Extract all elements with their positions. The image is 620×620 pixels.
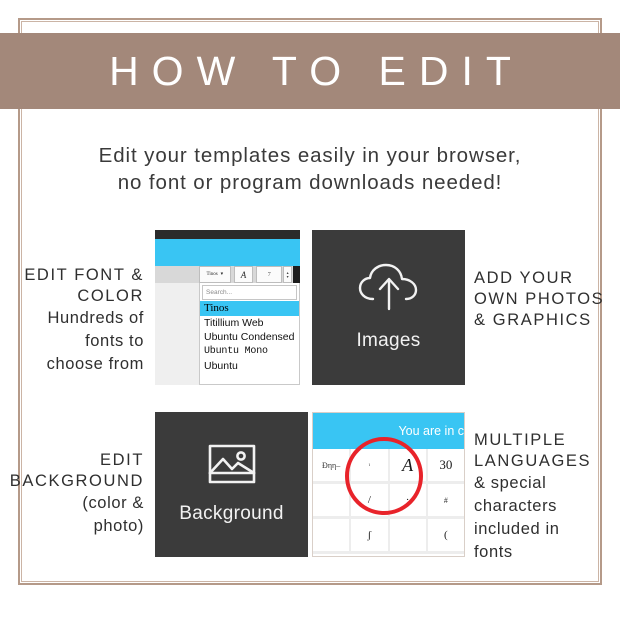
- caption-heading-line: MULTIPLE: [474, 430, 616, 451]
- caption-heading-line: EDIT FONT &: [14, 265, 144, 286]
- page-title: HOW TO EDIT: [96, 48, 524, 95]
- app-blue-header: [155, 239, 300, 266]
- font-picker-screenshot: Tinos ▾ A 7 ▴ ▾ Search... TinosTitillium…: [155, 230, 300, 385]
- font-size-value: 7: [268, 272, 271, 278]
- chevron-down-icon: ▾: [221, 272, 224, 277]
- caption-body-line: included in: [474, 518, 616, 541]
- font-size-stepper[interactable]: ▴ ▾: [283, 266, 292, 283]
- font-list-item[interactable]: Tinos: [200, 301, 299, 316]
- caption-body-line: & special: [474, 472, 616, 495]
- italic-a-glyph: A: [241, 270, 247, 280]
- header-banner: HOW TO EDIT: [0, 33, 620, 109]
- caption-heading-line: LANGUAGES: [474, 451, 616, 472]
- caption-heading-line: ADD YOUR: [474, 268, 614, 289]
- image-picture-icon: [208, 444, 256, 489]
- font-search-input[interactable]: Search...: [202, 285, 297, 300]
- background-tile[interactable]: Background: [155, 412, 308, 557]
- caption-body-line: Hundreds of: [14, 307, 144, 330]
- stepper-down-icon: ▾: [287, 275, 289, 279]
- caption-body-line: fonts to: [14, 330, 144, 353]
- caption-heading-line: COLOR: [14, 286, 144, 307]
- font-list-item[interactable]: Ubuntu Condensed: [200, 330, 299, 345]
- caption-body-line: fonts: [474, 541, 616, 564]
- glyph-cell[interactable]: #: [428, 484, 465, 516]
- caption-edit-background: EDIT BACKGROUND (color & photo): [8, 450, 144, 538]
- text-color-swatch[interactable]: [293, 266, 300, 283]
- caption-body-line: (color &: [8, 492, 144, 515]
- glyph-keyboard-screenshot: You are in c Đηη–ᶥA30/·#ʃ(: [312, 412, 465, 557]
- glyph-banner-text: You are in c: [398, 424, 464, 438]
- font-size-input[interactable]: 7: [256, 266, 282, 283]
- app-titlebar: [155, 230, 300, 239]
- glyph-cell[interactable]: (: [428, 519, 465, 551]
- font-dropdown-panel: Search... TinosTitillium WebUbuntu Conde…: [199, 283, 300, 385]
- caption-body-line: choose from: [14, 353, 144, 376]
- caption-edit-font-color: EDIT FONT & COLOR Hundreds of fonts to c…: [14, 265, 144, 376]
- cloud-upload-icon: [356, 263, 422, 316]
- glyph-cell[interactable]: ʃ: [351, 519, 389, 551]
- font-list-item[interactable]: Ubuntu Mono: [200, 345, 299, 360]
- font-list-item[interactable]: Ubuntu: [200, 359, 299, 374]
- poster-root: HOW TO EDIT Edit your templates easily i…: [0, 0, 620, 620]
- images-tile-label: Images: [356, 330, 420, 352]
- caption-heading-line: EDIT: [8, 450, 144, 471]
- font-toolbar: Tinos ▾ A 7 ▴ ▾: [199, 266, 300, 283]
- font-list[interactable]: TinosTitillium WebUbuntu CondensedUbuntu…: [200, 301, 299, 374]
- glyph-cell[interactable]: [313, 519, 351, 551]
- font-search-placeholder: Search...: [206, 289, 232, 296]
- subtitle-line-2: no font or program downloads needed!: [0, 169, 620, 196]
- font-style-italic-icon[interactable]: A: [234, 266, 254, 283]
- caption-body-line: characters: [474, 495, 616, 518]
- font-list-item[interactable]: Titillium Web: [200, 316, 299, 331]
- red-circle-highlight: [345, 437, 423, 515]
- subtitle-line-1: Edit your templates easily in your brows…: [0, 142, 620, 169]
- glyph-cell[interactable]: [390, 519, 428, 551]
- glyph-cell[interactable]: [313, 484, 351, 516]
- caption-multiple-languages: MULTIPLE LANGUAGES & special characters …: [474, 430, 616, 564]
- glyph-row: ʃ(: [313, 519, 465, 554]
- caption-heading-line: OWN PHOTOS: [474, 289, 614, 310]
- glyph-cell[interactable]: 30: [428, 449, 465, 481]
- subtitle: Edit your templates easily in your brows…: [0, 142, 620, 196]
- caption-heading-line: BACKGROUND: [8, 471, 144, 492]
- caption-add-photos: ADD YOUR OWN PHOTOS & GRAPHICS: [474, 268, 614, 331]
- font-family-value: Tinos: [206, 272, 217, 277]
- caption-body-line: photo): [8, 515, 144, 538]
- font-family-dropdown[interactable]: Tinos ▾: [199, 266, 231, 283]
- background-tile-label: Background: [179, 503, 283, 525]
- images-upload-tile[interactable]: Images: [312, 230, 465, 385]
- caption-heading-line: & GRAPHICS: [474, 310, 614, 331]
